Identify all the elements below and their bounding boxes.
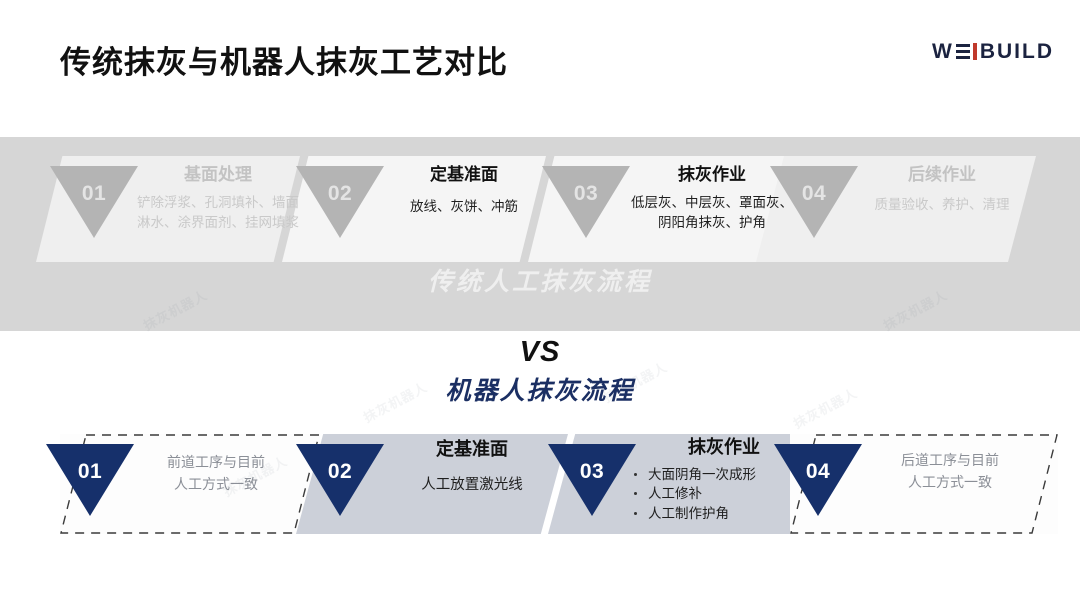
step-badge-02: 02 [296, 166, 384, 238]
traditional-step-01[interactable]: 01 基面处理 铲除浮浆、孔洞填补、墙面 淋水、涂界面剂、挂网填浆 [36, 150, 300, 280]
traditional-step-02[interactable]: 02 定基准面 放线、灰饼、冲筋 [282, 150, 546, 280]
step-desc: 质量验收、养护、清理 [854, 195, 1030, 215]
page-title: 传统抹灰与机器人抹灰工艺对比 [60, 37, 508, 82]
step-desc: 前道工序与目前 人工方式一致 [132, 452, 300, 495]
step-desc: 人工放置激光线 [382, 475, 562, 496]
step-title: 基面处理 [136, 164, 300, 185]
traditional-steps-row: 01 基面处理 铲除浮浆、孔洞填补、墙面 淋水、涂界面剂、挂网填浆 02 定基准… [0, 150, 1080, 280]
robot-flow-title: 机器人抹灰流程 [0, 379, 1080, 404]
step-text: 抹灰作业 大面阴角一次成形 人工修补 人工制作护角 [632, 436, 816, 523]
step-text: 抹灰作业 低层灰、中层灰、罩面灰、 阴阳角抹灰、护角 [626, 164, 798, 232]
robot-step-02[interactable]: 02 定基准面 人工放置激光线 [296, 428, 568, 550]
slide-header: 传统抹灰与机器人抹灰工艺对比 W BUILD [0, 0, 1080, 137]
list-item: 人工制作护角 [632, 504, 816, 524]
step-text: 前道工序与目前 人工方式一致 [132, 452, 300, 495]
brand-logo-text: W BUILD [932, 41, 1054, 62]
step-badge-01: 01 [46, 444, 134, 516]
brand-logo-e-icon [956, 43, 970, 60]
vs-label: VS [0, 338, 1080, 367]
step-bullet-list: 大面阴角一次成形 人工修补 人工制作护角 [632, 465, 816, 524]
step-number: 04 [802, 183, 826, 204]
step-text: 后道工序与目前 人工方式一致 [864, 450, 1036, 493]
step-number: 02 [328, 183, 352, 204]
robot-step-01[interactable]: 01 前道工序与目前 人工方式一致 [60, 428, 320, 550]
step-text: 基面处理 铲除浮浆、孔洞填补、墙面 淋水、涂界面剂、挂网填浆 [136, 164, 300, 232]
step-text: 定基准面 人工放置激光线 [382, 438, 562, 496]
step-desc: 后道工序与目前 人工方式一致 [864, 450, 1036, 493]
step-number: 03 [580, 461, 604, 482]
step-desc: 铲除浮浆、孔洞填补、墙面 淋水、涂界面剂、挂网填浆 [136, 193, 300, 232]
step-number: 02 [328, 461, 352, 482]
step-text: 定基准面 放线、灰饼、冲筋 [382, 164, 546, 217]
step-number: 01 [82, 183, 106, 204]
traditional-step-04[interactable]: 04 后续作业 质量验收、养护、清理 [756, 150, 1036, 280]
step-number: 03 [574, 183, 598, 204]
comparison-divider: VS 机器人抹灰流程 [0, 338, 1080, 404]
step-desc: 放线、灰饼、冲筋 [382, 197, 546, 217]
step-title: 后续作业 [854, 164, 1030, 185]
step-text: 后续作业 质量验收、养护、清理 [854, 164, 1030, 215]
brand-logo-build: BUILD [980, 41, 1054, 62]
brand-logo-w: W [932, 41, 954, 62]
traditional-step-03[interactable]: 03 抹灰作业 低层灰、中层灰、罩面灰、 阴阳角抹灰、护角 [528, 150, 792, 280]
robot-step-04[interactable]: 04 后道工序与目前 人工方式一致 [790, 428, 1058, 550]
brand-logo: W BUILD [932, 38, 1054, 64]
step-title: 定基准面 [382, 164, 546, 185]
robot-steps-row: 01 前道工序与目前 人工方式一致 02 定基准面 人工放置激光线 03 [0, 428, 1080, 550]
step-desc: 低层灰、中层灰、罩面灰、 阴阳角抹灰、护角 [626, 193, 798, 232]
step-badge-02: 02 [296, 444, 384, 516]
step-title: 抹灰作业 [632, 436, 816, 459]
traditional-band-watermark: 传统人工抹灰流程 [0, 262, 1080, 298]
brand-logo-red-bar-icon [973, 43, 977, 60]
robot-step-03[interactable]: 03 抹灰作业 大面阴角一次成形 人工修补 人工制作护角 [548, 428, 820, 550]
slide-root: 传统抹灰与机器人抹灰工艺对比 W BUILD 传统人工抹灰流程 01 基面处理 … [0, 0, 1080, 596]
step-badge-01: 01 [50, 166, 138, 238]
step-title: 抹灰作业 [626, 164, 798, 185]
list-item: 人工修补 [632, 484, 816, 504]
step-number: 01 [78, 461, 102, 482]
step-title: 定基准面 [382, 438, 562, 461]
step-badge-03: 03 [542, 166, 630, 238]
list-item: 大面阴角一次成形 [632, 465, 816, 485]
